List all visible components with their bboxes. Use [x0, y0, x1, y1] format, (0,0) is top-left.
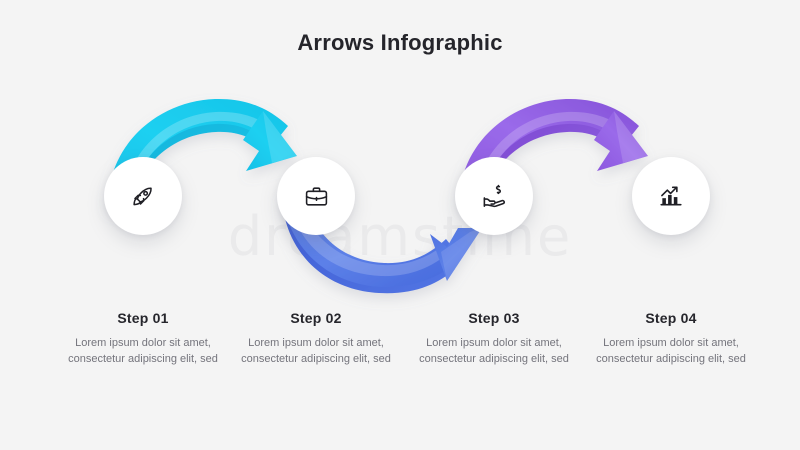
step-description-4: Lorem ipsum dolor sit amet, consectetur …	[576, 336, 766, 368]
infographic-canvas: Arrows Infographic dreamstime	[0, 0, 800, 450]
step-title-4: Step 04	[576, 310, 766, 326]
step-description-2: Lorem ipsum dolor sit amet, consectetur …	[221, 336, 411, 368]
caption-step-1: Step 01 Lorem ipsum dolor sit amet, cons…	[48, 310, 238, 368]
node-circle-4[interactable]	[632, 157, 710, 235]
node-circle-2[interactable]	[277, 157, 355, 235]
growth-chart-icon	[658, 183, 684, 209]
rocket-icon	[130, 183, 156, 209]
node-circle-3[interactable]	[455, 157, 533, 235]
step-title-1: Step 01	[48, 310, 238, 326]
caption-step-2: Step 02 Lorem ipsum dolor sit amet, cons…	[221, 310, 411, 368]
briefcase-icon	[304, 184, 329, 209]
step-description-3: Lorem ipsum dolor sit amet, consectetur …	[399, 336, 589, 368]
node-circle-1[interactable]	[104, 157, 182, 235]
step-title-2: Step 02	[221, 310, 411, 326]
step-title-3: Step 03	[399, 310, 589, 326]
hand-money-icon	[481, 183, 508, 210]
step-description-1: Lorem ipsum dolor sit amet, consectetur …	[48, 336, 238, 368]
caption-step-3: Step 03 Lorem ipsum dolor sit amet, cons…	[399, 310, 589, 368]
caption-step-4: Step 04 Lorem ipsum dolor sit amet, cons…	[576, 310, 766, 368]
